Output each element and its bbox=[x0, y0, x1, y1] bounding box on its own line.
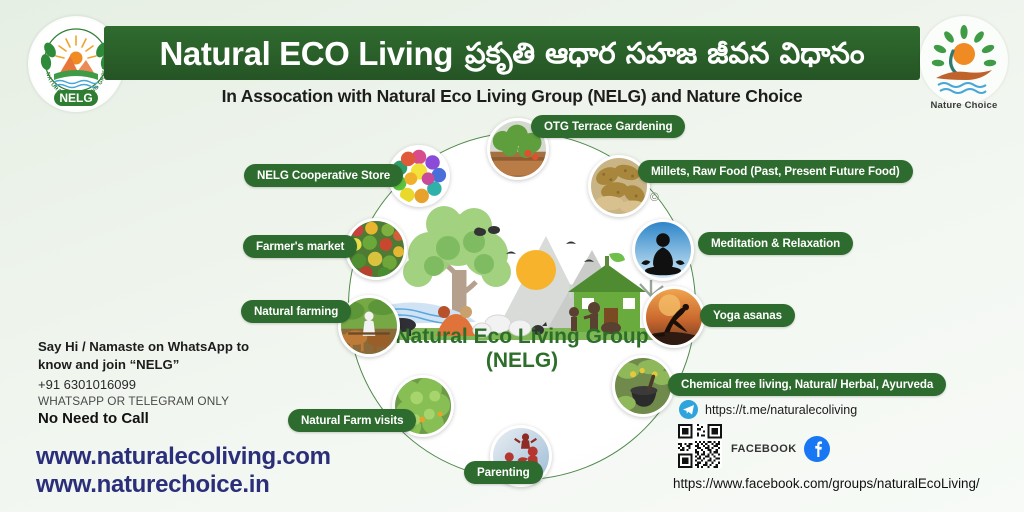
yoga-thumbnail bbox=[646, 289, 702, 345]
label-otg-terrace-gardening[interactable]: OTG Terrace Gardening bbox=[531, 115, 685, 138]
contact-line2: know and join “NELG” bbox=[38, 356, 308, 374]
label-text: OTG Terrace Gardening bbox=[544, 120, 672, 133]
nature-choice-caption: Nature Choice bbox=[914, 100, 1014, 111]
label-meditation-relaxation[interactable]: Meditation & Relaxation bbox=[698, 232, 853, 255]
facebook-url[interactable]: https://www.facebook.com/groups/naturalE… bbox=[673, 476, 980, 491]
label-text: NELG Cooperative Store bbox=[257, 169, 390, 182]
node-meditation-relaxation[interactable] bbox=[632, 219, 694, 281]
label-farmers-market[interactable]: Farmer's market bbox=[243, 235, 357, 258]
contact-no-call: No Need to Call bbox=[38, 410, 308, 427]
label-text: Natural Farm visits bbox=[301, 414, 403, 427]
label-natural-farming[interactable]: Natural farming bbox=[241, 300, 351, 323]
label-text: Millets, Raw Food (Past, Present Future … bbox=[651, 165, 900, 178]
nature-choice-graphic bbox=[920, 16, 1008, 104]
copyright-mark: © bbox=[650, 190, 659, 204]
infographic-poster: NATURAL ECO LIVING GROUP NELG Natural EC… bbox=[0, 0, 1024, 512]
label-text: Natural farming bbox=[254, 305, 338, 318]
label-parenting[interactable]: Parenting bbox=[464, 461, 543, 484]
node-yoga-asanas[interactable] bbox=[643, 286, 705, 348]
label-text: Yoga asanas bbox=[713, 309, 782, 322]
page-title: Natural ECO Living bbox=[159, 37, 453, 70]
label-millets-raw-food[interactable]: Millets, Raw Food (Past, Present Future … bbox=[638, 160, 913, 183]
facebook-label: FACEBOOK bbox=[731, 443, 797, 455]
contact-block: Say Hi / Namaste on WhatsApp to know and… bbox=[38, 338, 308, 427]
center-title-line1: Natural Eco Living Group bbox=[395, 325, 648, 348]
meditation-thumbnail bbox=[635, 222, 691, 278]
qr-code bbox=[678, 424, 722, 468]
contact-line1: Say Hi / Namaste on WhatsApp to bbox=[38, 338, 308, 356]
label-text: Chemical free living, Natural/ Herbal, A… bbox=[681, 378, 933, 391]
nature-choice-logo bbox=[920, 16, 1008, 104]
telegram-row[interactable]: https://t.me/naturalecoliving bbox=[679, 400, 857, 419]
page-title-telugu: ప్రకృతి ఆధార సహజ జీవన విధానం bbox=[465, 39, 865, 68]
label-yoga-asanas[interactable]: Yoga asanas bbox=[700, 304, 795, 327]
label-nelg-cooperative-store[interactable]: NELG Cooperative Store bbox=[244, 164, 403, 187]
header-banner: Natural ECO Living ప్రకృతి ఆధార సహజ జీవన… bbox=[104, 26, 920, 80]
contact-phone: +91 6301016099 bbox=[38, 377, 308, 392]
website-link-2[interactable]: www.naturechoice.in bbox=[36, 471, 331, 499]
qr-code-graphic bbox=[678, 424, 722, 468]
label-text: Meditation & Relaxation bbox=[711, 237, 840, 250]
telegram-icon bbox=[679, 400, 698, 419]
facebook-icon[interactable] bbox=[804, 436, 830, 462]
node-chemical-free-living[interactable] bbox=[612, 355, 674, 417]
website-link-1[interactable]: www.naturalecoliving.com bbox=[36, 443, 331, 471]
telegram-url[interactable]: https://t.me/naturalecoliving bbox=[705, 403, 857, 417]
label-chemical-free-living[interactable]: Chemical free living, Natural/ Herbal, A… bbox=[668, 373, 946, 396]
header-subtitle: In Assocation with Natural Eco Living Gr… bbox=[0, 86, 1024, 107]
label-text: Parenting bbox=[477, 466, 530, 479]
label-text: Farmer's market bbox=[256, 240, 344, 253]
facebook-row[interactable]: FACEBOOK bbox=[731, 436, 830, 462]
herbal-mortar-thumbnail bbox=[615, 358, 671, 414]
website-links: www.naturalecoliving.com www.naturechoic… bbox=[36, 443, 331, 500]
contact-channels: WHATSAPP OR TELEGRAM ONLY bbox=[38, 394, 308, 408]
